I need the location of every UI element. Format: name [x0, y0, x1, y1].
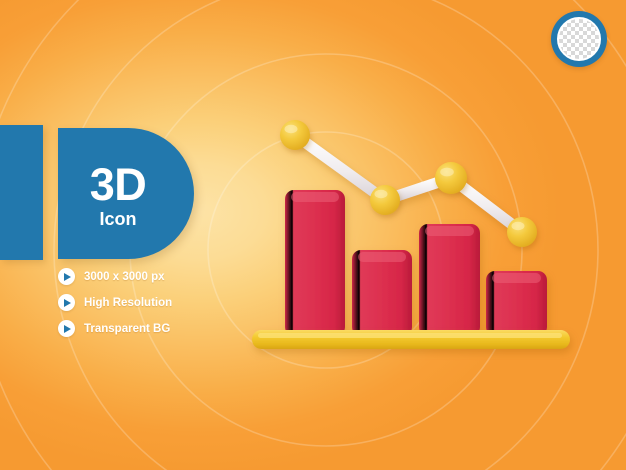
- play-icon: [58, 268, 75, 285]
- feature-label: High Resolution: [84, 297, 172, 309]
- transparent-checkerboard-icon: [551, 11, 607, 67]
- feature-list: 3000 x 3000 px High Resolution Transpare…: [58, 268, 172, 337]
- play-icon: [58, 294, 75, 311]
- feature-item-dimensions: 3000 x 3000 px: [58, 268, 172, 285]
- feature-item-transparent-bg: Transparent BG: [58, 320, 172, 337]
- checkerboard-pattern: [557, 17, 601, 61]
- play-icon: [58, 320, 75, 337]
- left-accent-tab: [0, 125, 43, 260]
- three-d-icon-badge: 3D Icon: [58, 128, 194, 259]
- feature-item-resolution: High Resolution: [58, 294, 172, 311]
- feature-label: 3000 x 3000 px: [84, 271, 165, 283]
- badge-subtitle: Icon: [99, 210, 136, 228]
- feature-label: Transparent BG: [84, 323, 170, 335]
- badge-title: 3D: [90, 163, 147, 207]
- icon-preview-canvas: 3D Icon 3000 x 3000 px High Resolution T…: [0, 0, 626, 470]
